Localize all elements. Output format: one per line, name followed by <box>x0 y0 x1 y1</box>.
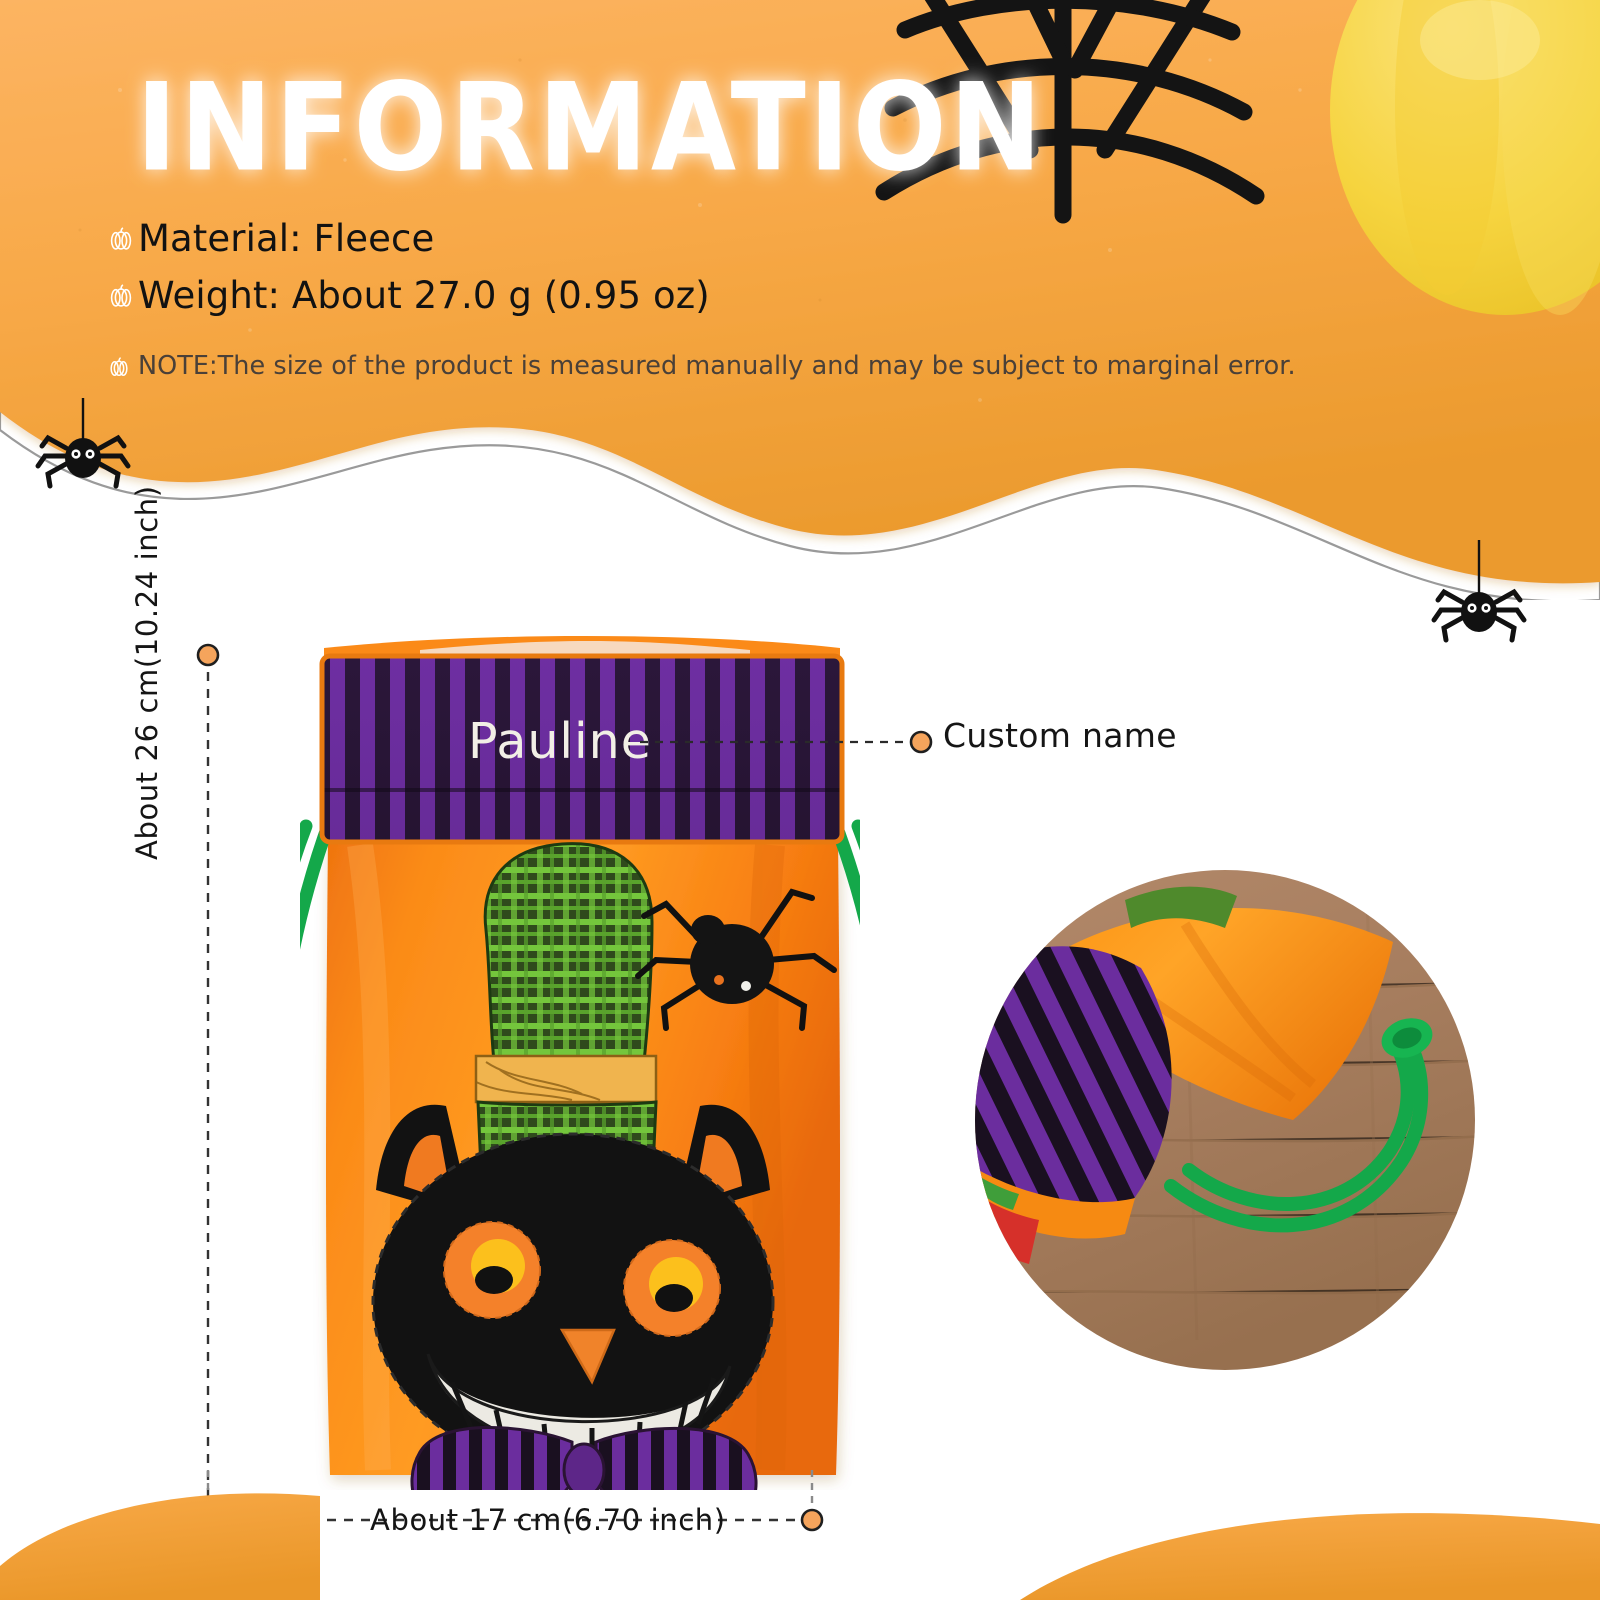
cat-eye-left <box>444 1222 540 1318</box>
height-dimension-label: About 26 cm(10.24 inch) <box>130 430 164 860</box>
spider-left <box>28 398 138 517</box>
page-title: INFORMATION <box>136 62 956 182</box>
cat-eye-right <box>624 1240 720 1336</box>
pumpkin-icon <box>108 227 138 255</box>
note-row: NOTE:The size of the product is measured… <box>108 351 1468 382</box>
note-text: NOTE:The size of the product is measured… <box>138 351 1296 382</box>
drawstring-detail-photo <box>975 870 1475 1370</box>
product-photo: Pauline <box>300 630 860 1490</box>
footer-wave-left <box>0 1493 320 1600</box>
info-list: Material: Fleece Weight: About 27.0 g (0… <box>108 218 1468 382</box>
spider-right <box>1424 540 1534 664</box>
footer-wave-right <box>1020 1513 1600 1600</box>
custom-name-callout-label: Custom name <box>943 716 1177 755</box>
pumpkin-icon <box>108 357 138 381</box>
list-item-label: Material: Fleece <box>138 218 434 261</box>
hat-band <box>476 1056 656 1102</box>
pumpkin-icon <box>108 284 138 312</box>
list-item: Weight: About 27.0 g (0.95 oz) <box>108 275 1468 318</box>
callout-dot <box>911 732 931 752</box>
list-item: Material: Fleece <box>108 218 1468 261</box>
dimension-dot-top <box>198 645 218 665</box>
footer-banner <box>0 1470 1600 1600</box>
custom-name-embroidery: Pauline <box>468 713 652 770</box>
list-item-label: Weight: About 27.0 g (0.95 oz) <box>138 275 710 318</box>
infographic-page: INFORMATION Material: Fleece <box>0 0 1600 1600</box>
drawstring-cord-left <box>300 820 330 1122</box>
bag-striped-cuff <box>975 946 1172 1205</box>
page-title-text: INFORMATION <box>136 59 1045 199</box>
